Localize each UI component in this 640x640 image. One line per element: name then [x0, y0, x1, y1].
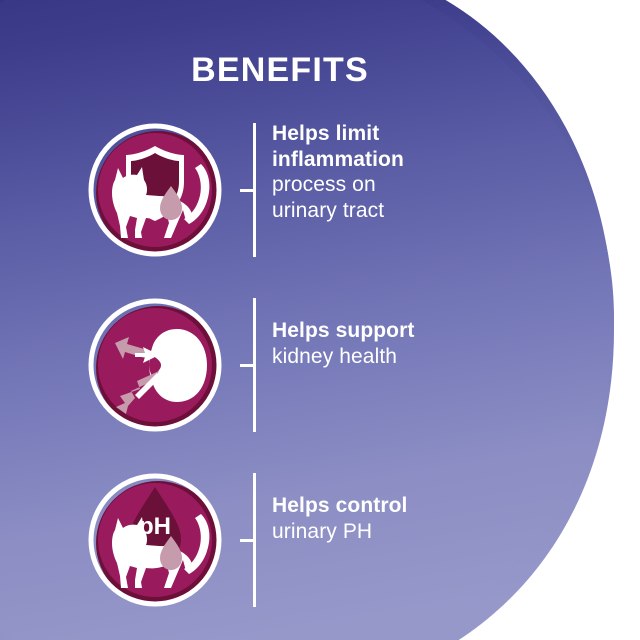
- connector-line: [238, 298, 258, 432]
- benefit-headline: Helps control: [272, 493, 522, 519]
- kidney-arrows-icon: [85, 295, 225, 435]
- benefit-text: Helps support kidney health: [272, 318, 522, 369]
- benefit-row: Helps support kidney health: [0, 280, 640, 450]
- benefit-headline: Helps limit: [272, 121, 522, 147]
- cat-ph-droplet-icon: pH: [85, 470, 225, 610]
- benefit-row: pH Helps control urinary PH: [0, 455, 640, 625]
- benefit-subtext: urinary PH: [272, 519, 522, 545]
- benefits-panel: BENEFITS: [0, 0, 640, 640]
- benefit-headline-2: inflammation: [272, 147, 522, 173]
- benefit-text: Helps control urinary PH: [272, 493, 522, 544]
- benefit-text: Helps limit inflammation process on urin…: [272, 121, 522, 223]
- cat-shield-droplet-icon: [85, 120, 225, 260]
- benefit-subtext: kidney health: [272, 344, 522, 370]
- benefit-row: Helps limit inflammation process on urin…: [0, 105, 640, 275]
- connector-line: [238, 123, 258, 257]
- connector-line: [238, 473, 258, 607]
- benefit-subtext-2: urinary tract: [272, 198, 522, 224]
- benefit-subtext: process on: [272, 172, 522, 198]
- benefit-headline: Helps support: [272, 318, 522, 344]
- page-title: BENEFITS: [0, 52, 560, 89]
